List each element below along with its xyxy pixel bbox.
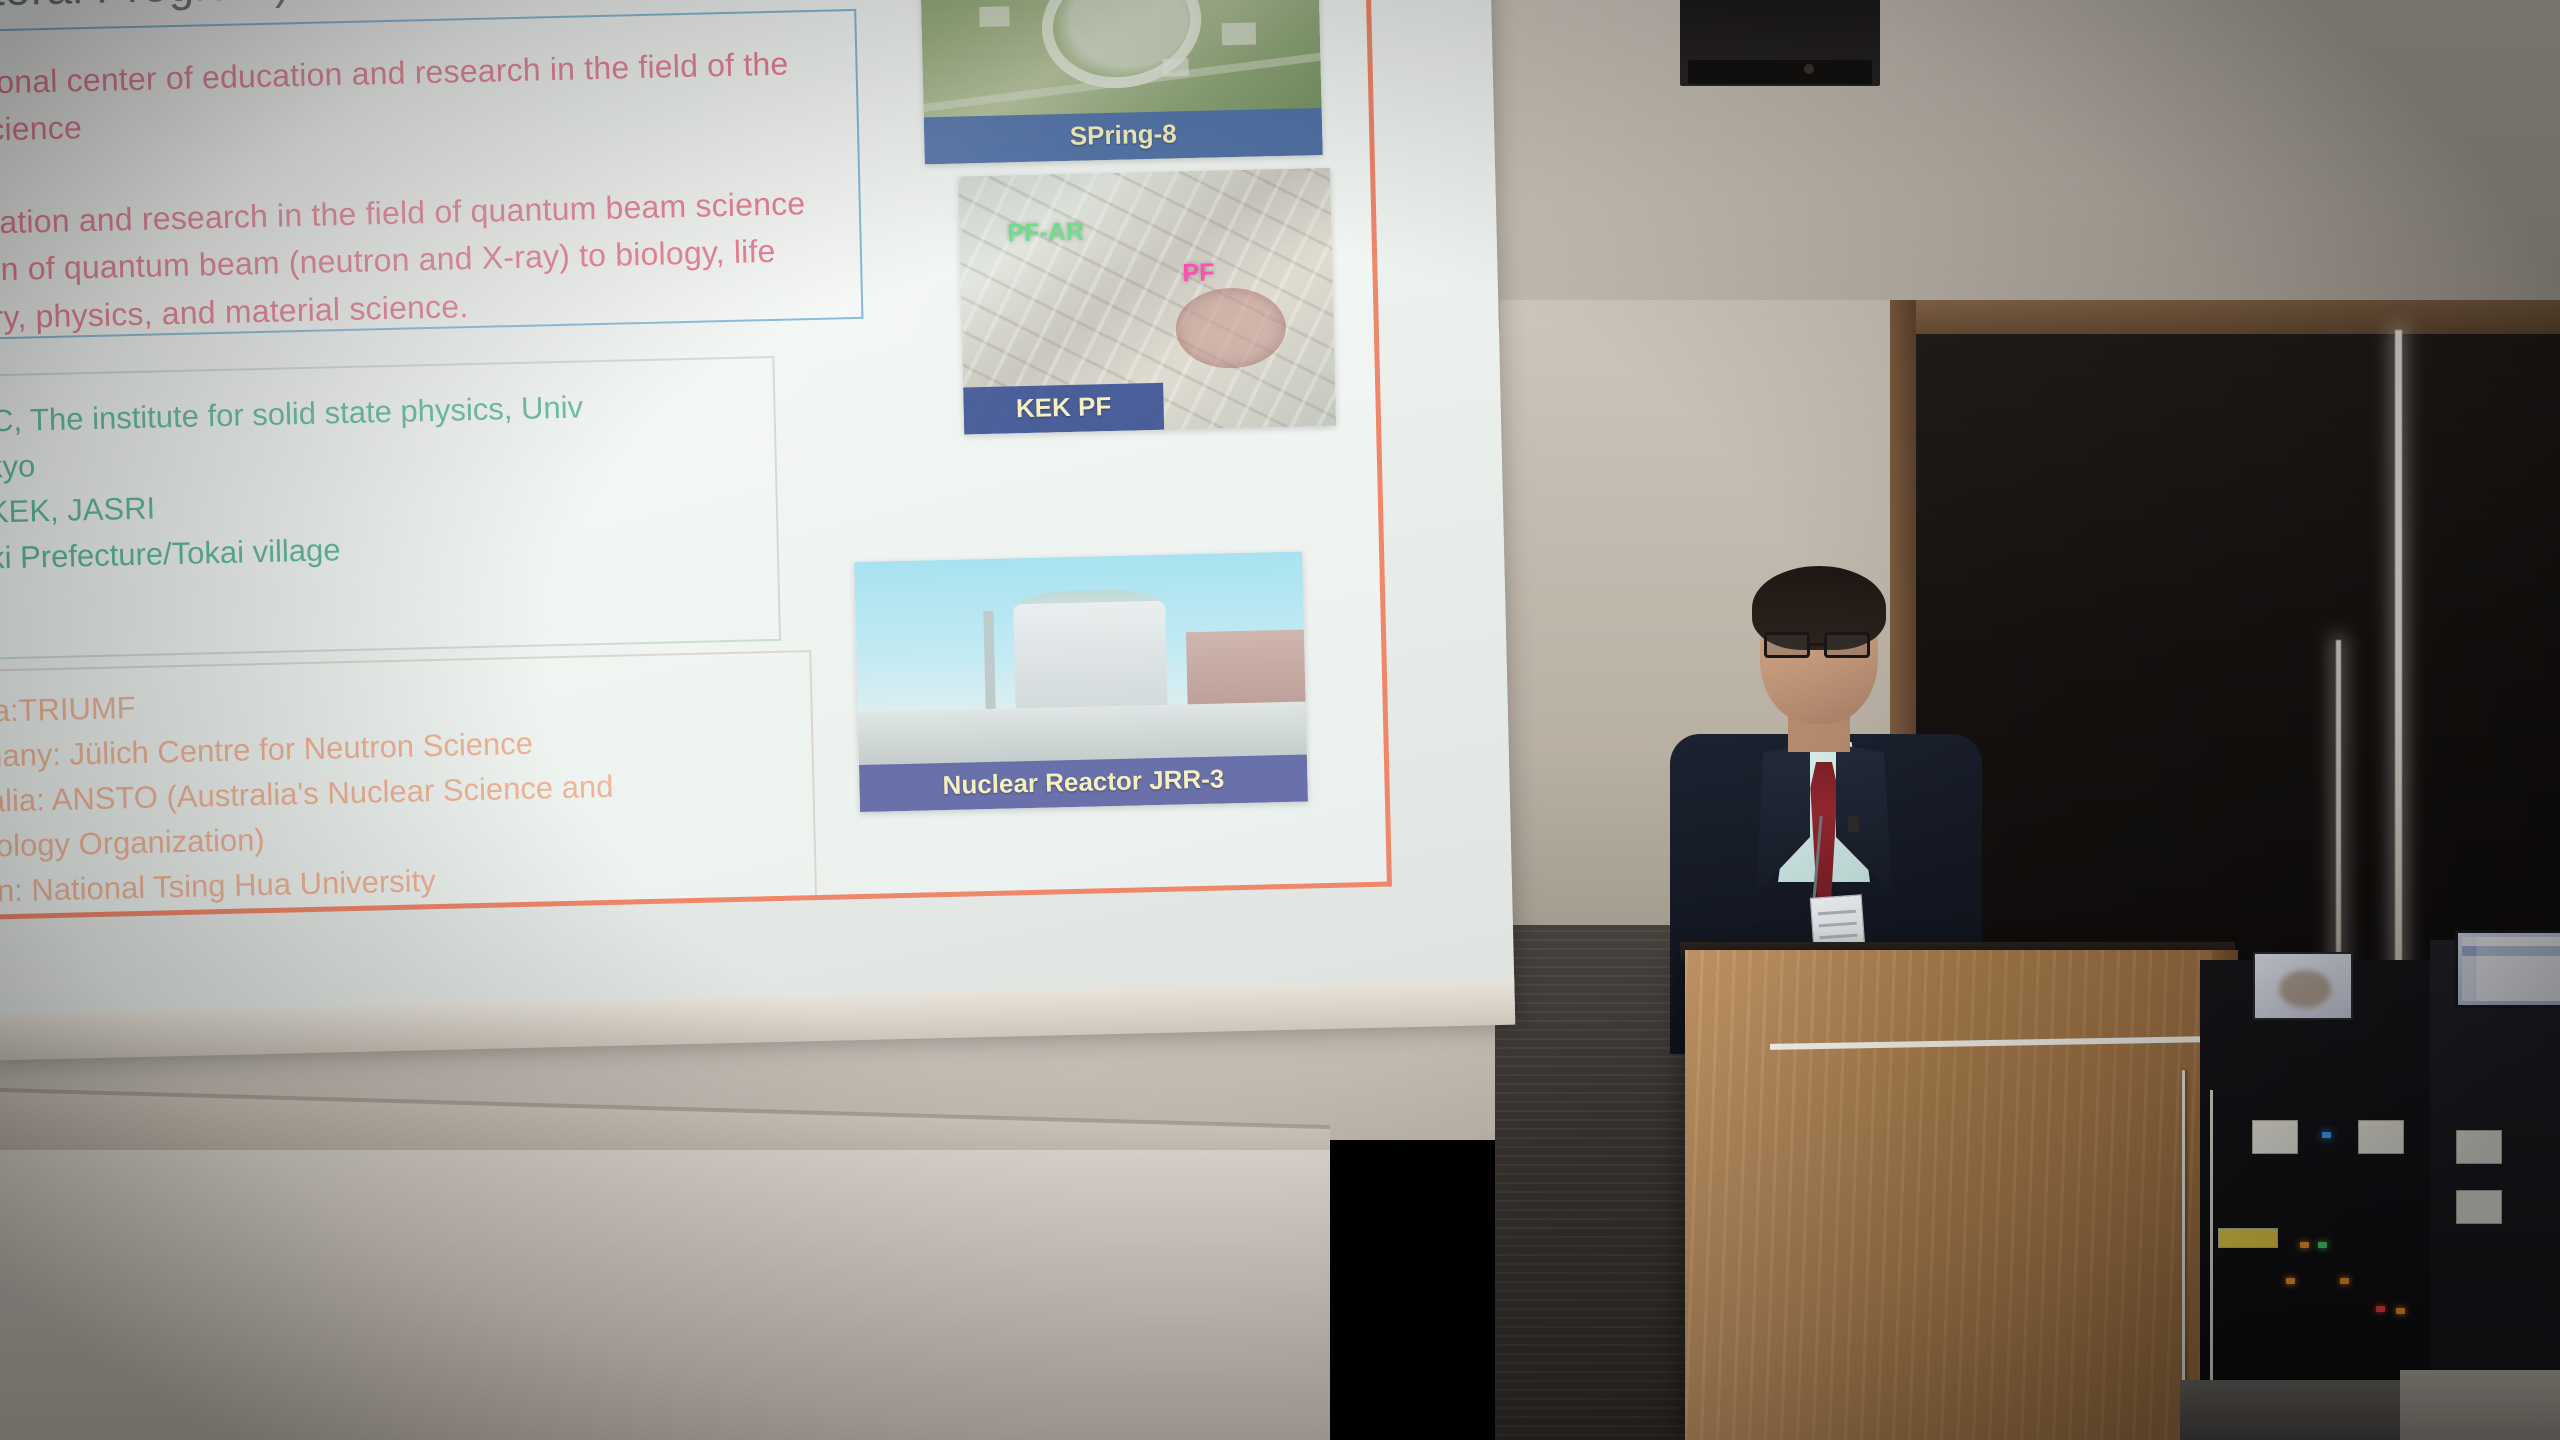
status-led-orange: [2300, 1242, 2309, 1248]
slide-orange-textbox: …da:TRIUMF …many: Jülich Centre for Neut…: [0, 650, 818, 921]
slide-photo-kek-pf: PF-AR PF KEK PF: [958, 168, 1336, 435]
status-led-orange: [2286, 1278, 2295, 1284]
status-led-orange: [2340, 1278, 2349, 1284]
projection-screen: …toral Program) …ational center of educa…: [0, 0, 1546, 1080]
lavalier-microphone-icon: [1848, 816, 1859, 832]
spring8-building: [1222, 22, 1257, 45]
slide-green-textbox: …RC, The institute for solid state physi…: [0, 356, 781, 665]
spring8-building: [979, 6, 1009, 27]
door-light-strip-secondary: [2336, 640, 2341, 990]
wood-trim-top: [1890, 300, 2560, 334]
pink-paragraph-2: …ucation and research in the field of qu…: [0, 180, 808, 343]
ceiling-speaker: [1680, 0, 1880, 86]
rack-label: [2456, 1130, 2502, 1164]
wall-right-panel: [1380, 0, 2560, 330]
eyeglass-lens-left: [1764, 632, 1810, 658]
slide-photo-jrr3: Nuclear Reactor JRR-3: [854, 552, 1308, 812]
front-lower-wall: [0, 1150, 1330, 1440]
control-monitor-small[interactable]: [2253, 952, 2353, 1020]
jrr3-caption: Nuclear Reactor JRR-3: [859, 754, 1308, 812]
kek-pf-label: PF: [1182, 259, 1215, 289]
av-equipment-rack-secondary[interactable]: [2430, 940, 2560, 1440]
slide-pink-textbox: …ational center of education and researc…: [0, 9, 863, 346]
rack-label: [2358, 1120, 2404, 1154]
pink-paragraph-1: …ational center of education and researc…: [0, 41, 790, 156]
status-led-orange: [2396, 1308, 2405, 1314]
slide-photo-spring8: SPring-8: [919, 0, 1323, 164]
door-light-strip: [2395, 330, 2402, 985]
eyeglasses-icon: [1764, 632, 1876, 658]
rack-warning-label: [2218, 1228, 2278, 1248]
spring8-building: [1162, 58, 1188, 77]
orange-paragraph: …da:TRIUMF …many: Jülich Centre for Neut…: [0, 675, 616, 915]
status-led-blue: [2322, 1132, 2331, 1138]
podium: [1685, 950, 2230, 1440]
status-led-red: [2376, 1306, 2385, 1312]
kek-pf-ar-label: PF-AR: [1007, 218, 1084, 249]
foreground-table: [2400, 1370, 2560, 1440]
rack-label: [2456, 1190, 2502, 1224]
dark-recess-panel: [1890, 300, 2560, 1000]
green-paragraph: …RC, The institute for solid state physi…: [0, 384, 587, 581]
projected-slide: …toral Program) …ational center of educa…: [0, 0, 1392, 921]
spring8-caption: SPring-8: [924, 108, 1323, 164]
speaker-grille: [1688, 60, 1872, 84]
speaker-driver-dot: [1804, 64, 1814, 74]
status-led-green: [2318, 1242, 2327, 1248]
eyeglass-lens-right: [1824, 632, 1870, 658]
control-monitor-large[interactable]: [2455, 930, 2560, 1008]
lecture-hall-scene: …toral Program) …ational center of educa…: [0, 0, 2560, 1440]
kek-pf-caption: KEK PF: [963, 383, 1164, 435]
rack-label: [2252, 1120, 2298, 1154]
